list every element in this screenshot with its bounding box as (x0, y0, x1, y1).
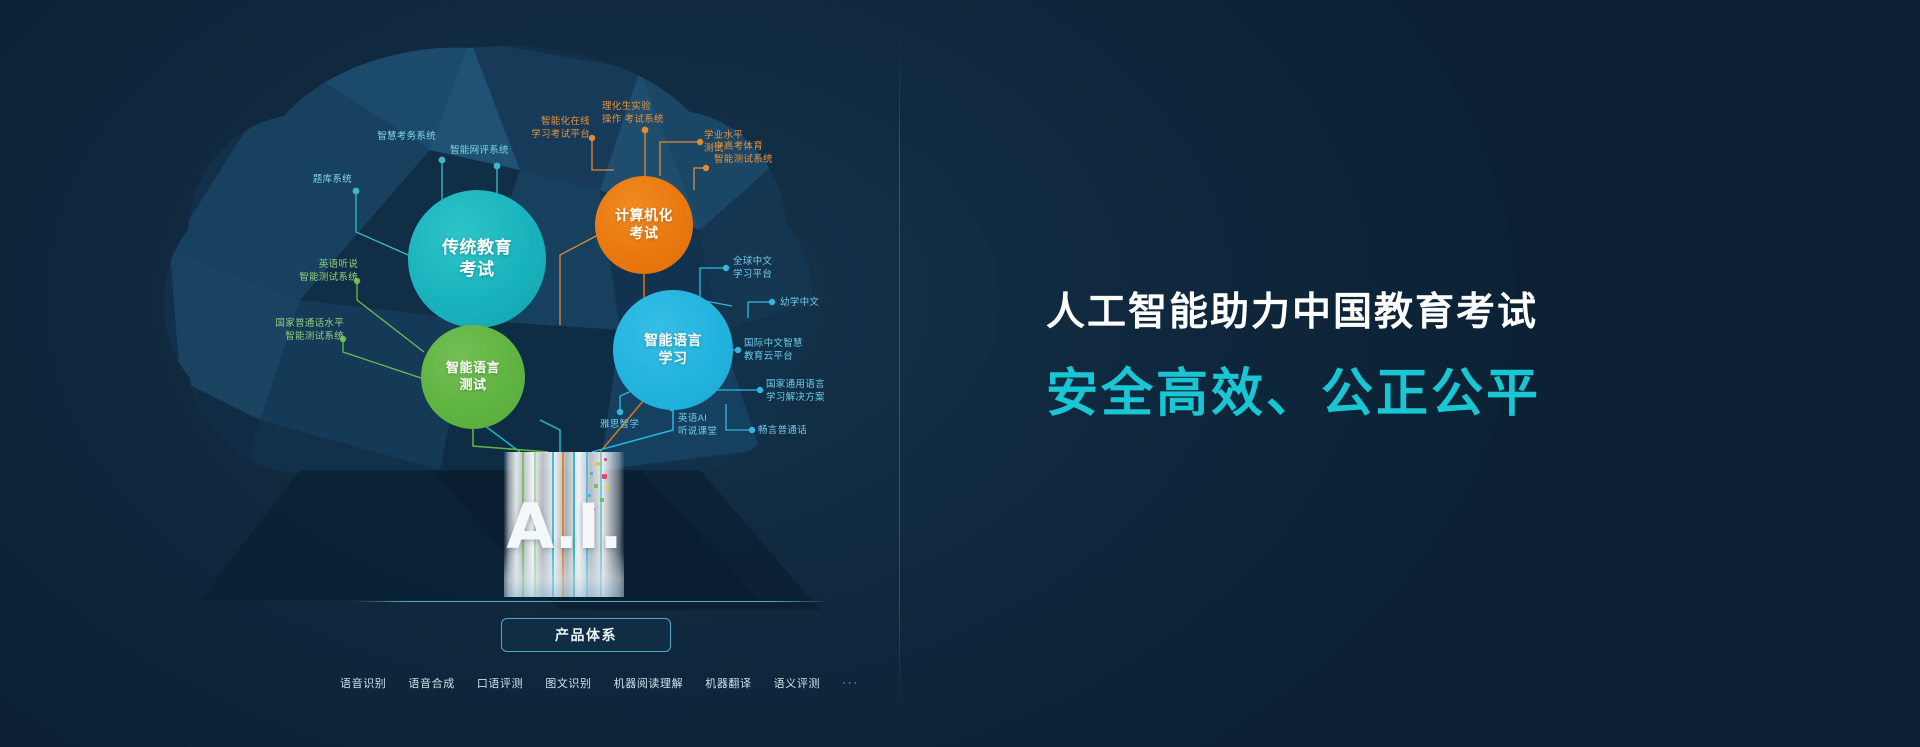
headline-secondary: 安全高效、公正公平 (1046, 363, 1746, 425)
tag-image-text-recognition[interactable]: 图文识别 (545, 675, 591, 691)
node-intelligent-language-testing[interactable]: 智能语言 测试 (421, 325, 525, 429)
tag-more-ellipsis[interactable]: ··· (842, 677, 859, 689)
vertical-divider (899, 38, 900, 710)
tag-machine-translation[interactable]: 机器翻译 (705, 675, 751, 691)
node-label: 计算机化 考试 (615, 207, 673, 243)
tag-speech-recognition[interactable]: 语音识别 (340, 675, 386, 691)
leaf-label-pe-smart-test: 中高考体育 智能测试系统 (714, 140, 802, 166)
headline-block: 人工智能助力中国教育考试 安全高效、公正公平 (1046, 290, 1746, 425)
leaf-label-lab-operation-exam: 理化生实验 操作 考试系统 (602, 100, 694, 126)
tag-speech-synthesis[interactable]: 语音合成 (408, 675, 454, 691)
leaf-label-english-ai-class: 英语AI 听说课堂 (678, 412, 742, 438)
leaf-label-ielts-smart: 雅思智学 (600, 418, 662, 431)
tag-machine-reading-comprehension[interactable]: 机器阅读理解 (614, 675, 684, 691)
tag-spoken-assessment[interactable]: 口语评测 (477, 675, 523, 691)
pill-label: 产品体系 (555, 625, 617, 645)
leaf-label-intl-chinese-cloud: 国际中文智慧 教育云平台 (744, 337, 834, 363)
leaf-label-national-language: 国家通用语言 学习解决方案 (766, 378, 856, 404)
tag-semantic-assessment[interactable]: 语义评测 (774, 675, 820, 691)
node-label: 智能语言 学习 (644, 332, 702, 368)
leaf-label-putonghua-test: 国家普通话水平 智能测试系统 (268, 317, 344, 343)
ai-tree-illustration: 传统教育 考试 计算机化 考试 智能语言 学习 智能语言 测试 题库系统 智慧考… (0, 0, 900, 747)
node-label: 传统教育 考试 (442, 237, 512, 281)
node-intelligent-language-learning[interactable]: 智能语言 学习 (613, 290, 733, 410)
hero-banner: 传统教育 考试 计算机化 考试 智能语言 学习 智能语言 测试 题库系统 智慧考… (0, 0, 1920, 747)
leaf-label-question-bank: 题库系统 (280, 173, 352, 186)
product-system-pill[interactable]: 产品体系 (501, 618, 671, 652)
node-computerized-exam[interactable]: 计算机化 考试 (595, 176, 693, 274)
leaf-label-smart-online-review: 智能网评系统 (450, 144, 546, 157)
leaf-label-smart-exam-affairs: 智慧考务系统 (344, 130, 436, 143)
ai-trunk: A.I. (504, 452, 624, 597)
capability-tag-row: 语音识别 语音合成 口语评测 图文识别 机器阅读理解 机器翻译 语义评测 ··· (340, 675, 860, 691)
leaf-label-changyan-putonghua: 畅言普通话 (758, 424, 836, 437)
node-label: 智能语言 测试 (446, 360, 500, 393)
baseline-divider (352, 601, 830, 602)
leaf-label-global-chinese: 全球中文 学习平台 (733, 255, 811, 281)
leaf-label-english-listening-test: 英语听说 智能测试系统 (282, 258, 358, 284)
ai-wordmark: A.I. (504, 490, 624, 563)
leaf-label-kids-chinese: 幼学中文 (780, 296, 846, 309)
leaf-label-smart-online-platform: 智能化在线 学习考试平台 (514, 115, 590, 141)
node-traditional-education-exam[interactable]: 传统教育 考试 (408, 190, 546, 328)
headline-primary: 人工智能助力中国教育考试 (1046, 290, 1746, 337)
